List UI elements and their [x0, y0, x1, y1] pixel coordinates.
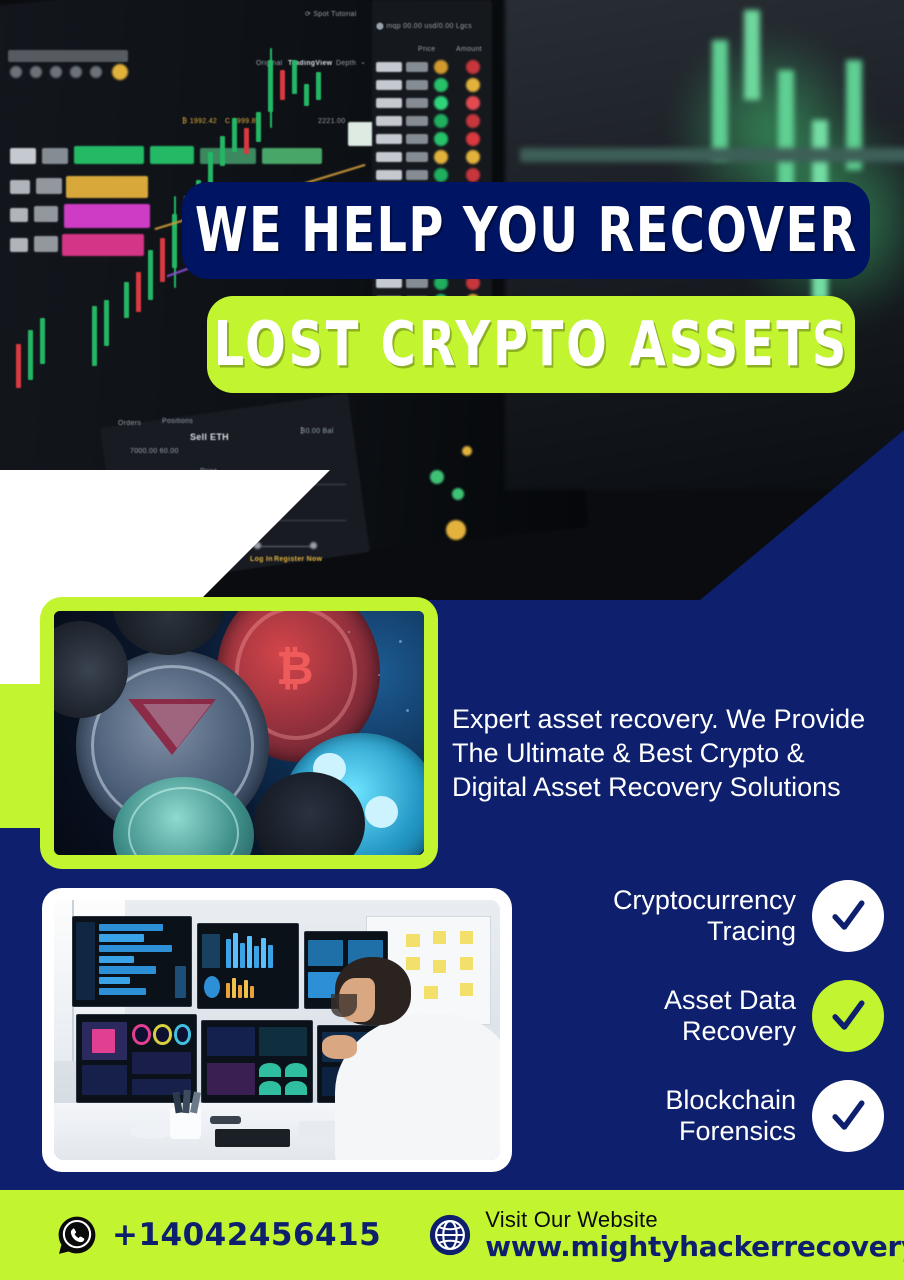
whatsapp-icon: [56, 1214, 98, 1256]
description-text: Expert asset recovery. We Provide The Ul…: [452, 702, 872, 804]
phone-number: +14042456415: [112, 1217, 381, 1253]
visit-website-label: Visit Our Website: [485, 1207, 658, 1232]
headline-line-1: WE HELP YOU RECOVER: [195, 200, 858, 261]
service-label: Blockchain Forensics: [665, 1085, 796, 1148]
headline-bar-primary: WE HELP YOU RECOVER: [182, 182, 870, 279]
service-label: Cryptocurrency Tracing: [613, 885, 796, 948]
service-label: Asset Data Recovery: [664, 985, 796, 1048]
check-badge-white: [812, 1080, 884, 1152]
crypto-coins-card: ₿: [40, 597, 438, 869]
globe-icon: [427, 1212, 473, 1258]
office-photo-image: [54, 900, 500, 1160]
service-item-blockchain-forensics[interactable]: Blockchain Forensics: [470, 1066, 884, 1166]
check-icon: [826, 1094, 870, 1138]
website-url: www.mightyhackerrecovery.com: [485, 1230, 904, 1263]
service-item-cryptocurrency-tracing[interactable]: Cryptocurrency Tracing: [470, 866, 884, 966]
services-list: Cryptocurrency Tracing Asset Data Recove…: [470, 866, 884, 1166]
check-icon: [826, 994, 870, 1038]
poster-root: Original TradingView Depth ⌄ ⟳ Spot Tuto…: [0, 0, 904, 1280]
check-badge-white: [812, 880, 884, 952]
headline-line-2: LOST CRYPTO ASSETS: [213, 314, 848, 375]
footer-contact-bar: +14042456415 Visit Our Website www.might…: [0, 1190, 904, 1280]
service-item-asset-data-recovery[interactable]: Asset Data Recovery: [470, 966, 884, 1066]
check-badge-lime: [812, 980, 884, 1052]
check-icon: [826, 894, 870, 938]
phone-contact[interactable]: +14042456415: [56, 1214, 381, 1256]
office-photo-card: [42, 888, 512, 1172]
crypto-coins-image: ₿: [54, 611, 424, 855]
headline-bar-secondary: LOST CRYPTO ASSETS: [207, 296, 855, 393]
website-contact[interactable]: Visit Our Website www.mightyhackerrecove…: [427, 1208, 904, 1262]
